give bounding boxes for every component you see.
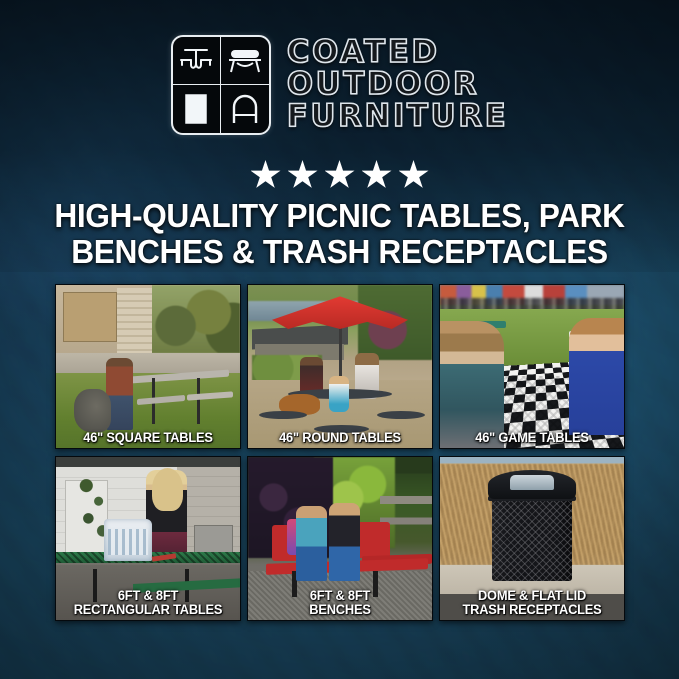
headline-line-1: HIGH-QUALITY PICNIC TABLES, PARK (40, 198, 638, 234)
product-tile-square-tables[interactable]: 46" SQUARE TABLES (55, 284, 241, 449)
product-tile-round-tables[interactable]: 46" ROUND TABLES (247, 284, 433, 449)
brand-logo: COATED OUTDOOR FURNITURE (0, 26, 679, 144)
product-photo-square-tables (56, 285, 240, 448)
picnic-table-icon (173, 37, 221, 85)
product-tile-benches[interactable]: 6FT & 8FT BENCHES (247, 456, 433, 621)
logo-mark (171, 35, 271, 135)
headline: HIGH-QUALITY PICNIC TABLES, PARK BENCHES… (40, 198, 638, 269)
caption-line-1: 46" GAME TABLES (447, 431, 618, 445)
product-caption: 6FT & 8FT BENCHES (255, 589, 426, 617)
headline-line-2: BENCHES & TRASH RECEPTACLES (40, 234, 638, 270)
product-tile-game-tables[interactable]: 46" GAME TABLES (439, 284, 625, 449)
star-icon (251, 160, 281, 190)
trash-receptacle-icon (173, 85, 221, 133)
star-icon (288, 160, 318, 190)
product-banner: COATED OUTDOOR FURNITURE HIGH-QUALITY PI… (0, 0, 679, 679)
product-tile-rectangular-tables[interactable]: 6FT & 8FT RECTANGULAR TABLES (55, 456, 241, 621)
product-photo-game-tables (440, 285, 624, 448)
product-caption: DOME & FLAT LID TRASH RECEPTACLES (447, 589, 618, 617)
brand-line-2: OUTDOOR (287, 70, 479, 100)
caption-line-2: RECTANGULAR TABLES (63, 603, 234, 617)
caption-line-2: BENCHES (255, 603, 426, 617)
caption-line-2: TRASH RECEPTACLES (447, 603, 618, 617)
product-caption: 46" ROUND TABLES (255, 431, 426, 445)
product-caption: 6FT & 8FT RECTANGULAR TABLES (63, 589, 234, 617)
bench-table-icon (221, 37, 269, 85)
caption-line-1: 46" SQUARE TABLES (63, 431, 234, 445)
product-tile-trash-receptacles[interactable]: DOME & FLAT LID TRASH RECEPTACLES (439, 456, 625, 621)
star-icon (399, 160, 429, 190)
product-caption: 46" GAME TABLES (447, 431, 618, 445)
brand-wordmark: COATED OUTDOOR FURNITURE (287, 37, 509, 132)
caption-line-1: DOME & FLAT LID (447, 589, 618, 603)
caption-line-1: 46" ROUND TABLES (255, 431, 426, 445)
star-icon (325, 160, 355, 190)
product-grid: 46" SQUARE TABLES (55, 284, 625, 621)
product-photo-round-tables (248, 285, 432, 448)
star-icon (362, 160, 392, 190)
caption-line-1: 6FT & 8FT (255, 589, 426, 603)
caption-line-1: 6FT & 8FT (63, 589, 234, 603)
bike-rack-icon (221, 85, 269, 133)
brand-line-3: FURNITURE (287, 102, 509, 132)
product-caption: 46" SQUARE TABLES (63, 431, 234, 445)
star-rating (0, 158, 679, 192)
brand-line-1: COATED (287, 38, 440, 68)
